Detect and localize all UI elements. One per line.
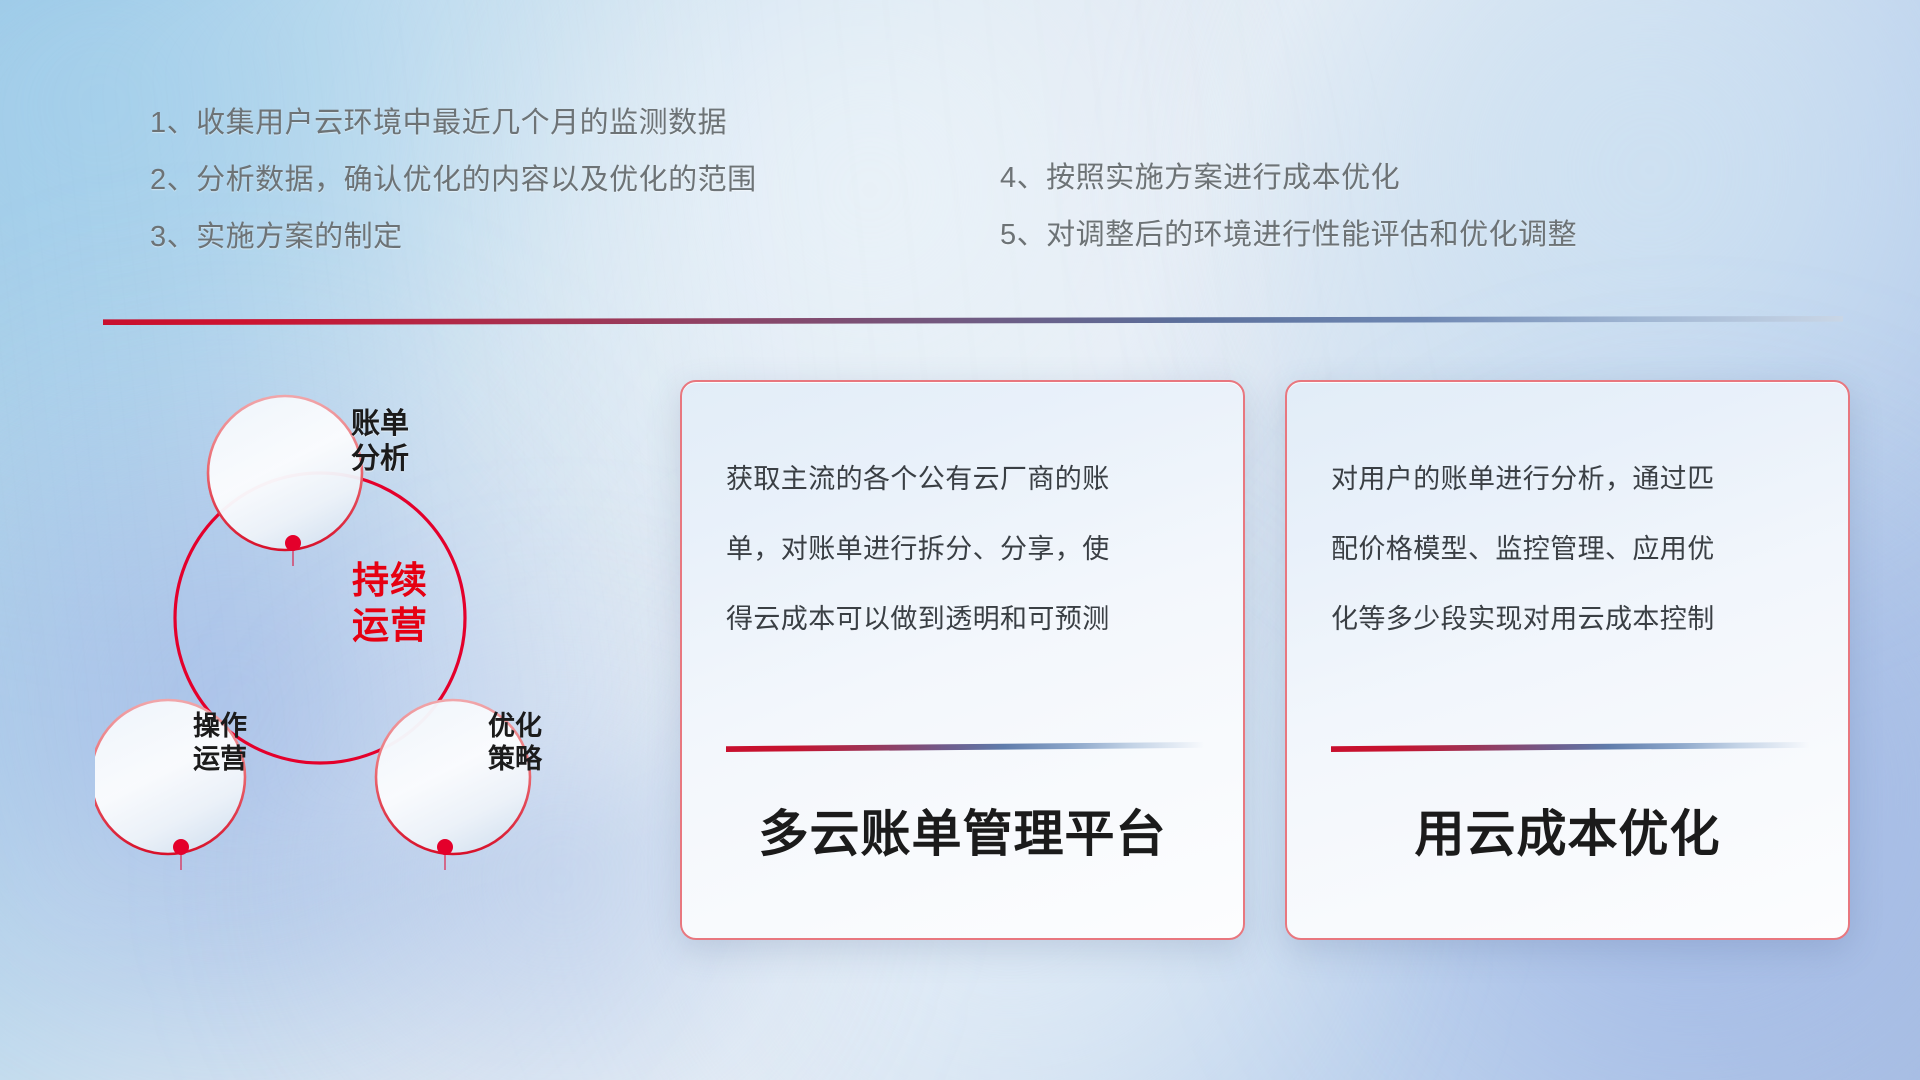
card-2-body: 对用户的账单进行分析，通过匹 配价格模型、监控管理、应用优 化等多少段实现对用云…	[1287, 382, 1848, 654]
venn-label-bottom-right: 优化 策略	[440, 710, 590, 776]
step-item-2: 2、分析数据，确认优化的内容以及优化的范围	[150, 152, 757, 209]
steps-right-column: 4、按照实施方案进行成本优化 5、对调整后的环境进行性能评估和优化调整	[1000, 150, 1577, 264]
section-divider-rule	[103, 316, 1843, 325]
card-2-title: 用云成本优化	[1287, 794, 1848, 866]
venn-node-dot-bottom-left	[173, 839, 189, 855]
venn-label-center: 持续 运营	[310, 558, 470, 648]
info-card-multicloud-billing[interactable]: 获取主流的各个公有云厂商的账 单，对账单进行拆分、分享，使 得云成本可以做到透明…	[680, 380, 1245, 940]
venn-label-top: 账单 分析	[300, 407, 460, 478]
card-1-divider	[726, 742, 1204, 752]
step-item-5: 5、对调整后的环境进行性能评估和优化调整	[1000, 207, 1577, 264]
steps-left-column: 1、收集用户云环境中最近几个月的监测数据 2、分析数据，确认优化的内容以及优化的…	[150, 95, 757, 266]
card-2-divider	[1331, 742, 1809, 752]
step-item-1: 1、收集用户云环境中最近几个月的监测数据	[150, 95, 757, 152]
card-1-divider-bar	[726, 742, 1204, 752]
card-2-line-2: 配价格模型、监控管理、应用优	[1331, 514, 1804, 584]
venn-node-dot-bottom-right	[437, 839, 453, 855]
card-2-line-1: 对用户的账单进行分析，通过匹	[1331, 444, 1804, 514]
card-2-divider-bar	[1331, 742, 1809, 752]
card-1-line-1: 获取主流的各个公有云厂商的账	[726, 444, 1199, 514]
venn-diagram: 账单 分析 持续 运营 操作 运营 优化 策略	[95, 350, 615, 950]
venn-label-bottom-left: 操作 运营	[145, 710, 295, 776]
step-item-3: 3、实施方案的制定	[150, 209, 757, 266]
card-1-title: 多云账单管理平台	[682, 794, 1243, 866]
venn-node-dot-top	[285, 535, 301, 551]
card-2-line-3: 化等多少段实现对用云成本控制	[1331, 584, 1804, 654]
section-divider-bar	[103, 316, 1843, 325]
info-card-cloud-cost-optimization[interactable]: 对用户的账单进行分析，通过匹 配价格模型、监控管理、应用优 化等多少段实现对用云…	[1285, 380, 1850, 940]
card-1-body: 获取主流的各个公有云厂商的账 单，对账单进行拆分、分享，使 得云成本可以做到透明…	[682, 382, 1243, 654]
card-1-line-3: 得云成本可以做到透明和可预测	[726, 584, 1199, 654]
card-1-line-2: 单，对账单进行拆分、分享，使	[726, 514, 1199, 584]
step-item-4: 4、按照实施方案进行成本优化	[1000, 150, 1577, 207]
